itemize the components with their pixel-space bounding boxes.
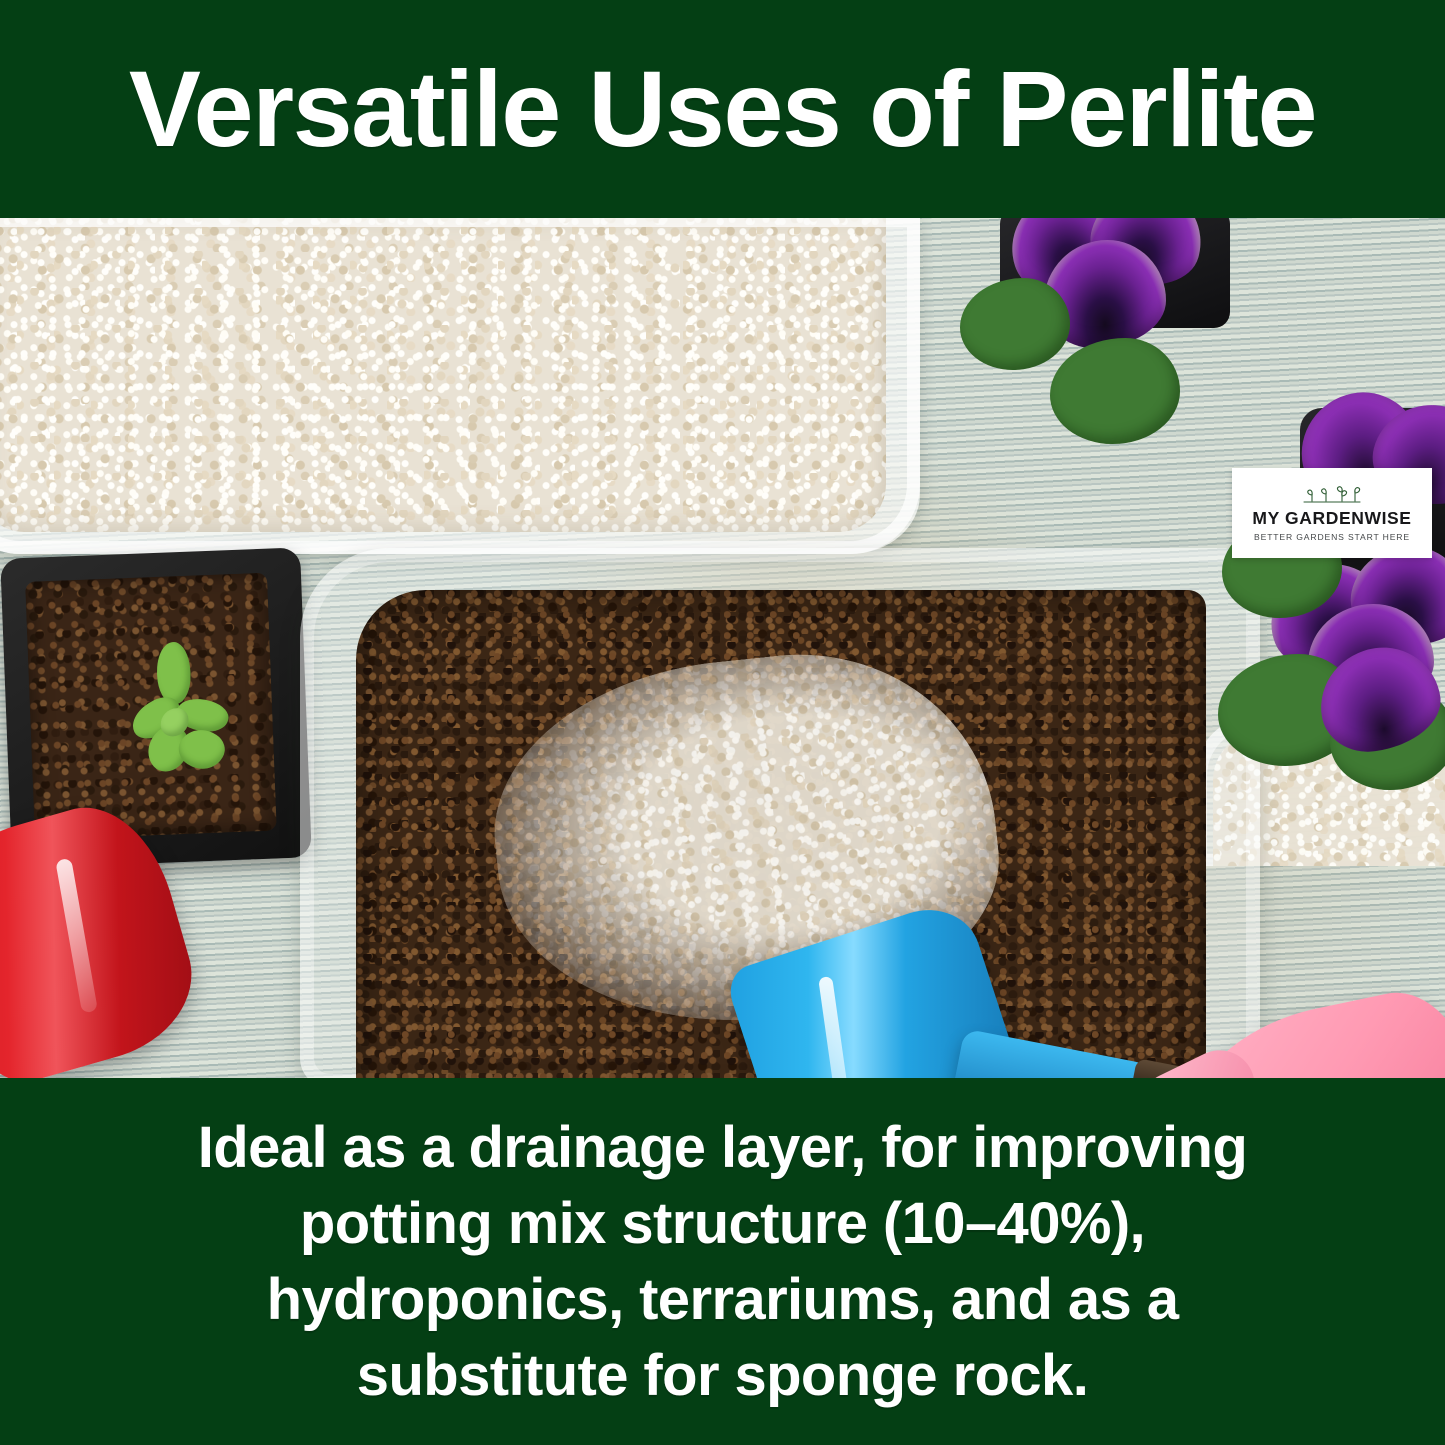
photo-area: MY GARDENWISE BETTER GARDENS START HERE [0,218,1445,1078]
perlite-infographic-poster: Versatile Uses of Perlite [0,0,1445,1445]
pansy-leaf-top-a [960,278,1070,370]
blue-trowel [760,918,1090,1078]
seedling-plant [124,640,249,785]
caption-line-2: potting mix structure (10–40%), [300,1186,1145,1262]
caption-line-1: Ideal as a drainage layer, for improving [198,1110,1247,1186]
page-title: Versatile Uses of Perlite [0,55,1445,163]
brand-logo[interactable]: MY GARDENWISE BETTER GARDENS START HERE [1232,468,1432,558]
seedling-sprouts-icon [1300,484,1364,506]
caption-band: Ideal as a drainage layer, for improving… [0,1078,1445,1445]
logo-tagline: BETTER GARDENS START HERE [1254,533,1410,542]
perlite-granules [0,218,886,532]
caption-line-3: hydroponics, terrariums, and as a [267,1262,1179,1338]
logo-brand-name: MY GARDENWISE [1252,510,1411,528]
perlite-tray [0,218,920,554]
header-band: Versatile Uses of Perlite [0,0,1445,218]
pansy-flower-right-bottom [1320,648,1445,823]
caption-line-4: substitute for sponge rock. [357,1338,1088,1414]
